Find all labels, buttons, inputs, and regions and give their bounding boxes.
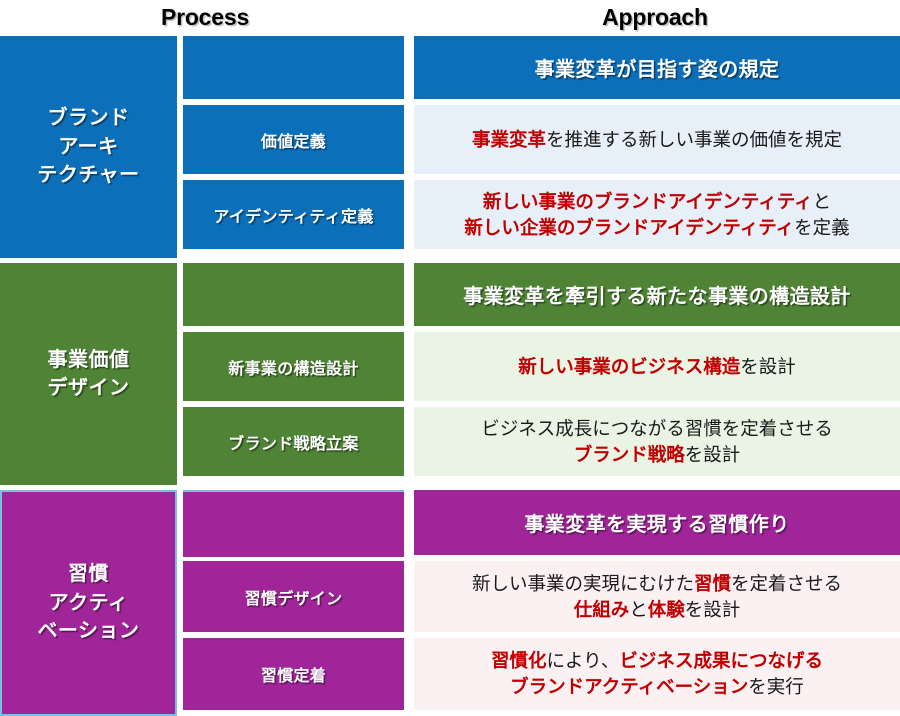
step-column-filler [183, 36, 404, 99]
step-box-identity-definition[interactable]: アイデンティティ定義 [183, 180, 404, 249]
approach-column-habit-activation: 事業変革を実現する習慣作り 新しい事業の実現にむけた習慣を定着させる仕組みと体験… [414, 490, 900, 716]
step-column-habit-activation: 習慣デザイン 習慣定着 [183, 490, 404, 716]
detail-text-habit-design: 新しい事業の実現にむけた習慣を定着させる仕組みと体験を設計 [414, 561, 900, 632]
step-box-habit-establishment[interactable]: 習慣定着 [183, 638, 404, 710]
section-brand-architecture: ブランドアーキテクチャー 価値定義 アイデンティティ定義 事業変革が目指す姿の規… [0, 36, 900, 258]
step-column-business-value-design: 新事業の構造設計 ブランド戦略立案 [183, 263, 404, 485]
phase-label-business-value-design: 事業価値デザイン [0, 263, 177, 485]
step-column-filler [183, 490, 404, 557]
section-habit-activation: 習慣アクティベーション 習慣デザイン 習慣定着 事業変革を実現する習慣作り 新し… [0, 490, 900, 716]
detail-text-identity-definition: 新しい事業のブランドアイデンティティと新しい企業のブランドアイデンティティを定義 [414, 180, 900, 249]
column-header-process: Process [0, 0, 410, 34]
phase-label-brand-architecture: ブランドアーキテクチャー [0, 36, 177, 258]
band-title-business-value-design: 事業変革を牽引する新たな事業の構造設計 [414, 263, 900, 326]
detail-text-value-definition: 事業変革を推進する新しい事業の価値を規定 [414, 105, 900, 174]
step-box-habit-design[interactable]: 習慣デザイン [183, 561, 404, 632]
approach-column-business-value-design: 事業変革を牽引する新たな事業の構造設計 新しい事業のビジネス構造を設計 ビジネス… [414, 263, 900, 485]
step-box-brand-strategy-planning[interactable]: ブランド戦略立案 [183, 407, 404, 476]
step-box-value-definition[interactable]: 価値定義 [183, 105, 404, 174]
approach-column-brand-architecture: 事業変革が目指す姿の規定 事業変革を推進する新しい事業の価値を規定 新しい事業の… [414, 36, 900, 258]
section-business-value-design: 事業価値デザイン 新事業の構造設計 ブランド戦略立案 事業変革を牽引する新たな事… [0, 263, 900, 485]
process-approach-diagram: Process Approach ブランドアーキテクチャー 価値定義 アイデンテ… [0, 0, 900, 716]
detail-text-brand-strategy-planning: ビジネス成長につながる習慣を定着させるブランド戦略を設計 [414, 407, 900, 476]
band-title-brand-architecture: 事業変革が目指す姿の規定 [414, 36, 900, 99]
step-column-brand-architecture: 価値定義 アイデンティティ定義 [183, 36, 404, 258]
detail-text-new-business-structure-design: 新しい事業のビジネス構造を設計 [414, 332, 900, 401]
step-column-filler [183, 263, 404, 326]
column-headers: Process Approach [0, 0, 900, 34]
band-title-habit-activation: 事業変革を実現する習慣作り [414, 490, 900, 555]
detail-text-habit-establishment: 習慣化により、ビジネス成果につなげるブランドアクティベーションを実行 [414, 638, 900, 710]
column-header-approach: Approach [410, 0, 900, 34]
step-box-new-business-structure-design[interactable]: 新事業の構造設計 [183, 332, 404, 401]
phase-label-habit-activation: 習慣アクティベーション [0, 490, 177, 716]
